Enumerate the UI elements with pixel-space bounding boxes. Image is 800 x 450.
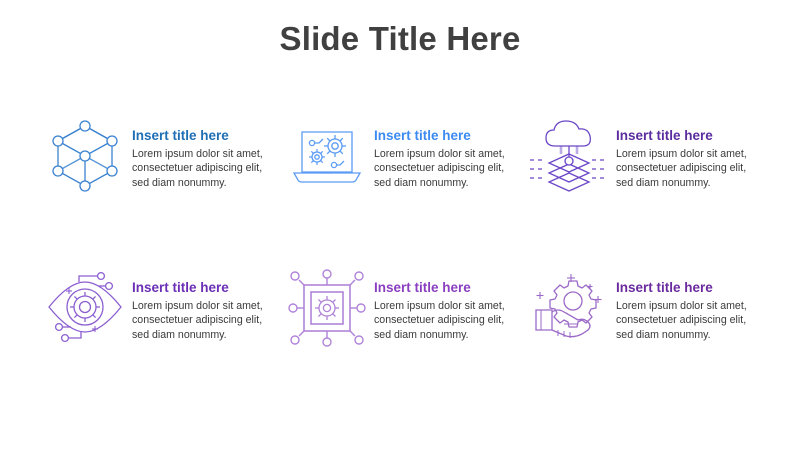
item-title: Insert title here [374,280,524,296]
infographic-grid: Insert title here Lorem ipsum dolor sit … [42,112,768,416]
item-description: Lorem ipsum dolor sit amet, consectetuer… [374,299,524,342]
infographic-text-2: Insert title here Lorem ipsum dolor sit … [370,112,524,190]
item-title: Insert title here [616,280,766,296]
item-description: Lorem ipsum dolor sit amet, consectetuer… [132,147,282,190]
infographic-text-4: Insert title here Lorem ipsum dolor sit … [128,264,282,342]
item-title: Insert title here [132,128,282,144]
page-title: Slide Title Here [0,20,800,58]
item-description: Lorem ipsum dolor sit amet, consectetuer… [616,299,766,342]
cloud-layers-icon [526,112,612,198]
infographic-item-6[interactable]: Insert title here Lorem ipsum dolor sit … [526,264,768,416]
infographic-item-2[interactable]: Insert title here Lorem ipsum dolor sit … [284,112,526,264]
infographic-text-5: Insert title here Lorem ipsum dolor sit … [370,264,524,342]
item-title: Insert title here [616,128,766,144]
infographic-item-1[interactable]: Insert title here Lorem ipsum dolor sit … [42,112,284,264]
infographic-item-5[interactable]: Insert title here Lorem ipsum dolor sit … [284,264,526,416]
slide-canvas: Slide Title Here [0,0,800,450]
item-description: Lorem ipsum dolor sit amet, consectetuer… [132,299,282,342]
item-title: Insert title here [132,280,282,296]
network-cube-icon [42,112,128,198]
infographic-item-3[interactable]: Insert title here Lorem ipsum dolor sit … [526,112,768,264]
infographic-text-6: Insert title here Lorem ipsum dolor sit … [612,264,766,342]
item-title: Insert title here [374,128,524,144]
infographic-text-3: Insert title here Lorem ipsum dolor sit … [612,112,766,190]
item-description: Lorem ipsum dolor sit amet, consectetuer… [374,147,524,190]
item-description: Lorem ipsum dolor sit amet, consectetuer… [616,147,766,190]
chip-gear-icon [284,264,370,350]
infographic-item-4[interactable]: Insert title here Lorem ipsum dolor sit … [42,264,284,416]
eye-gear-icon [42,264,128,350]
infographic-text-1: Insert title here Lorem ipsum dolor sit … [128,112,282,190]
hand-gear-icon [526,264,612,350]
laptop-gears-icon [284,112,370,198]
